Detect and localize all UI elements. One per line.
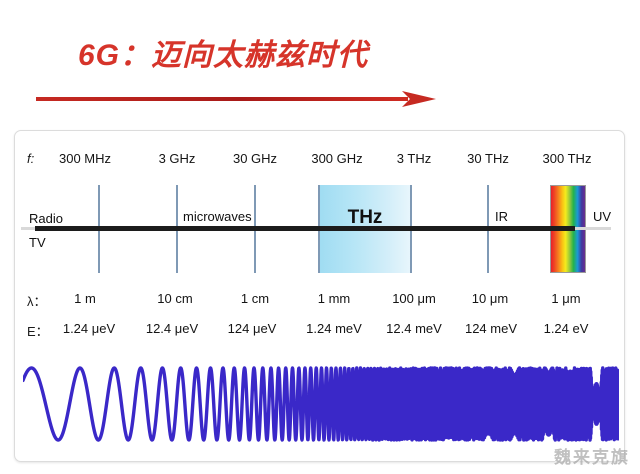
chirp-waveform <box>23 353 619 455</box>
energy-axis-row: E： 1.24 μeV 12.4 μeV 124 μeV 1.24 meV 12… <box>15 321 624 341</box>
title-block: 6G：迈向太赫兹时代 <box>0 36 640 82</box>
energy-tick-label: 1.24 eV <box>544 321 589 336</box>
band-label-uv: UV <box>591 209 613 224</box>
page-title: 6G：迈向太赫兹时代 <box>78 36 368 76</box>
wavelength-tick-label: 1 mm <box>318 291 351 306</box>
energy-tick-label: 124 meV <box>465 321 517 336</box>
spectrum-panel: f: 300 MHz 3 GHz 30 GHz 300 GHz 3 THz 30… <box>14 130 625 462</box>
band-label-thz: THz <box>348 207 383 229</box>
band-label-radio: Radio <box>27 211 65 226</box>
frequency-axis-key: f: <box>27 151 34 166</box>
band-label-ir: IR <box>493 209 510 224</box>
frequency-tick-label: 30 THz <box>467 151 509 166</box>
frequency-tick-label: 30 GHz <box>233 151 277 166</box>
spectrum-axis-line <box>35 226 575 231</box>
wavelength-tick-label: 1 cm <box>241 291 269 306</box>
chirp-waveform-svg <box>23 353 619 455</box>
progress-arrow-icon <box>36 88 436 110</box>
chirp-waveform-path <box>23 368 619 440</box>
wavelength-tick-label: 1 μm <box>551 291 580 306</box>
energy-tick-label: 124 μeV <box>228 321 277 336</box>
energy-tick-label: 1.24 meV <box>306 321 362 336</box>
frequency-tick-label: 300 THz <box>543 151 592 166</box>
wavelength-tick-label: 10 μm <box>472 291 508 306</box>
wavelength-tick-label: 1 m <box>74 291 96 306</box>
energy-axis-key: E： <box>27 321 49 340</box>
frequency-axis-row: f: 300 MHz 3 GHz 30 GHz 300 GHz 3 THz 30… <box>15 151 624 171</box>
energy-tick-label: 12.4 μeV <box>146 321 198 336</box>
frequency-tick-label: 300 GHz <box>311 151 362 166</box>
frequency-tick-label: 3 THz <box>397 151 431 166</box>
progress-arrow <box>36 88 436 110</box>
spectrum-graphic: Radio TV microwaves THz IR UV <box>15 183 626 275</box>
energy-tick-label: 12.4 meV <box>386 321 442 336</box>
band-label-tv: TV <box>27 235 48 250</box>
frequency-tick-label: 3 GHz <box>159 151 196 166</box>
wavelength-tick-label: 10 cm <box>157 291 192 306</box>
band-label-microwaves: microwaves <box>181 209 254 224</box>
watermark: 魏来克旗 <box>554 443 630 468</box>
frequency-tick-label: 300 MHz <box>59 151 111 166</box>
energy-tick-label: 1.24 μeV <box>63 321 115 336</box>
wavelength-axis-row: λ： 1 m 10 cm 1 cm 1 mm 100 μm 10 μm 1 μm <box>15 291 624 311</box>
wavelength-axis-key: λ： <box>27 291 47 310</box>
wavelength-tick-label: 100 μm <box>392 291 436 306</box>
